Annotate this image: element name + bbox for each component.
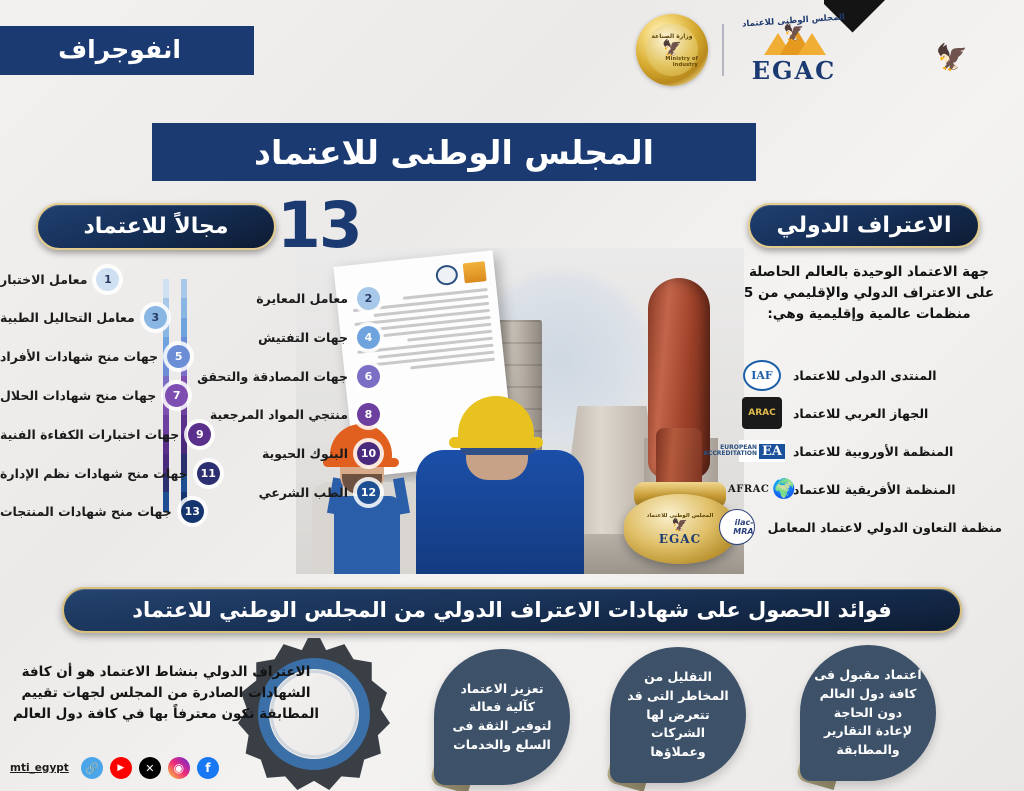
egac-logo: المجلس الوطنى للاعتماد 🦅 EGAC: [738, 16, 850, 85]
scope-label: جهات منح شهادات الحلال: [0, 388, 156, 403]
scope-item: 2معامل المعايرة: [190, 287, 380, 309]
scope-item: 11جهات منح شهادات نظم الإدارة: [0, 462, 180, 484]
arac-logo-icon: ARAC: [740, 396, 784, 430]
list-item: منظمة التعاون الدولي لاعتماد المعامل ila…: [740, 509, 1002, 545]
list-item: الجهاز العربي للاعتماد ARAC: [740, 395, 1002, 431]
scope-label: جهات منح شهادات نظم الإدارة: [0, 466, 188, 481]
ea-logo-icon: EA EUROPEAN ACCREDITATION: [740, 434, 784, 468]
scope-number-badge: 12: [357, 481, 380, 504]
scope-item: 13جهات منح شهادات المنتجات: [0, 501, 180, 523]
scope-label: جهات التفتيش: [258, 330, 348, 345]
egac-pyramid-eagle-icon: 🦅: [764, 25, 824, 55]
scope-item: 8منتجي المواد المرجعية: [190, 404, 380, 426]
flag-black-stripe: [824, 0, 1024, 33]
stamp-acronym: EGAC: [647, 532, 714, 546]
international-recognition-badge: الاعتراف الدولي: [748, 203, 980, 248]
scope-number-badge: 4: [357, 326, 380, 349]
threads-link-icon[interactable]: 🔗: [81, 757, 103, 779]
scope-label: معامل المعايرة: [256, 291, 348, 306]
scope-item: 5جهات منح شهادات الأفراد: [0, 346, 180, 368]
list-item: المنظمة الأفريقية للاعتماد 🌍 AFRAC: [740, 471, 1002, 507]
scope-number-badge: 13: [181, 500, 204, 523]
certificate-seal-icon: [435, 264, 459, 286]
benefit-card: اعتماد مقبول فى كافة دول العالم دون الحا…: [800, 645, 936, 781]
organization-list: المنتدى الدولى للاعتماد IAF الجهاز العرب…: [740, 357, 1002, 547]
afrac-logo-icon: 🌍 AFRAC: [740, 472, 784, 506]
scope-item: 3معامل التحاليل الطبية: [0, 307, 180, 329]
organization-name: المنتدى الدولى للاعتماد: [793, 368, 1002, 383]
organization-name: الجهاز العربي للاعتماد: [793, 406, 1002, 421]
page-title: المجلس الوطنى للاعتماد: [152, 123, 756, 181]
scope-item: 9جهات اختبارات الكفاءة الفنية: [0, 423, 180, 445]
scope-label: الطب الشرعي: [259, 485, 348, 500]
scope-number-badge: 7: [165, 384, 188, 407]
scope-number-badge: 10: [357, 442, 380, 465]
scope-item: 6جهات المصادقة والتحقق: [190, 365, 380, 387]
list-item: المنظمة الأوروبية للاعتماد EA EUROPEAN A…: [740, 433, 1002, 469]
scope-item: 7جهات منح شهادات الحلال: [0, 384, 180, 406]
scope-label: جهات منح شهادات الأفراد: [0, 349, 158, 364]
facebook-icon[interactable]: f: [197, 757, 219, 779]
ministry-seal-english: Ministry of Industry: [646, 56, 698, 68]
scope-list: 1معامل الاختبار2معامل المعايرة3معامل الت…: [0, 268, 360, 528]
certificate-logo-icon: [463, 261, 487, 283]
social-bar: f ◉ ✕ ▶ 🔗 mti_egypt: [10, 757, 219, 779]
egac-acronym: EGAC: [752, 56, 837, 85]
iaf-logo-icon: IAF: [740, 358, 784, 392]
bottom-note: الاعتراف الدولي بنشاط الاعتماد هو أن كاف…: [10, 662, 322, 725]
scope-label: منتجي المواد المرجعية: [210, 407, 348, 422]
egypt-eagle-emblem-icon: 🦅: [938, 44, 968, 72]
scope-item: 10البنوك الحيوية: [190, 443, 380, 465]
benefits-banner: فوائد الحصول على شهادات الاعتراف الدولي …: [62, 587, 962, 633]
worker-yellow-helmet: [416, 392, 584, 574]
tab-accent-bar: [243, 26, 254, 75]
scope-item: 1معامل الاختبار: [0, 268, 180, 290]
scope-badge: مجالاً للاعتماد: [36, 203, 276, 250]
ministry-of-industry-seal-icon: وزارة الصناعة 🦅 Ministry of Industry: [636, 14, 708, 86]
scope-label: معامل التحاليل الطبية: [0, 310, 135, 325]
scope-label: البنوك الحيوية: [262, 446, 348, 461]
organization-name: المنظمة الأفريقية للاعتماد: [793, 482, 1002, 497]
egypt-flag: 🦅: [824, 0, 1024, 105]
scope-label: جهات منح شهادات المنتجات: [0, 504, 172, 519]
tab-label: انفوجراف: [0, 26, 243, 75]
ilac-mra-logo-icon: ilac-MRA: [715, 510, 759, 544]
instagram-icon[interactable]: ◉: [168, 757, 190, 779]
scope-item: 12الطب الشرعي: [190, 481, 380, 503]
infographic-page: 🦅 المجلس الوطنى للاعتماد 🦅 EGAC وزارة ال…: [0, 0, 1024, 791]
x-twitter-icon[interactable]: ✕: [139, 757, 161, 779]
infographic-tab: انفوجراف: [0, 26, 262, 75]
list-item: المنتدى الدولى للاعتماد IAF: [740, 357, 1002, 393]
scope-number-badge: 1: [96, 268, 119, 291]
scope-label: جهات اختبارات الكفاءة الفنية: [0, 427, 179, 442]
logo-divider: [722, 24, 724, 76]
scope-label: جهات المصادقة والتحقق: [197, 369, 348, 384]
scope-number-badge: 8: [357, 403, 380, 426]
international-description: جهة الاعتماد الوحيدة بالعالم الحاصلة على…: [742, 262, 996, 325]
scope-number-badge: 3: [144, 306, 167, 329]
social-handle[interactable]: mti_egypt: [10, 762, 69, 774]
header-logos: المجلس الوطنى للاعتماد 🦅 EGAC وزارة الصن…: [636, 14, 850, 86]
benefit-card: التقليل من المخاطر التى قد تتعرض لها الش…: [610, 647, 746, 783]
benefit-card: تعزيز الاعتماد كآلية فعالة لتوفير الثقة …: [434, 649, 570, 785]
scope-item: 4جهات التفتيش: [190, 326, 380, 348]
scope-label: معامل الاختبار: [0, 272, 87, 287]
youtube-icon[interactable]: ▶: [110, 757, 132, 779]
organization-name: منظمة التعاون الدولي لاعتماد المعامل: [768, 520, 1002, 535]
scope-number-badge: 6: [357, 365, 380, 388]
organization-name: المنظمة الأوروبية للاعتماد: [793, 444, 1002, 459]
scope-number-badge: 2: [357, 287, 380, 310]
